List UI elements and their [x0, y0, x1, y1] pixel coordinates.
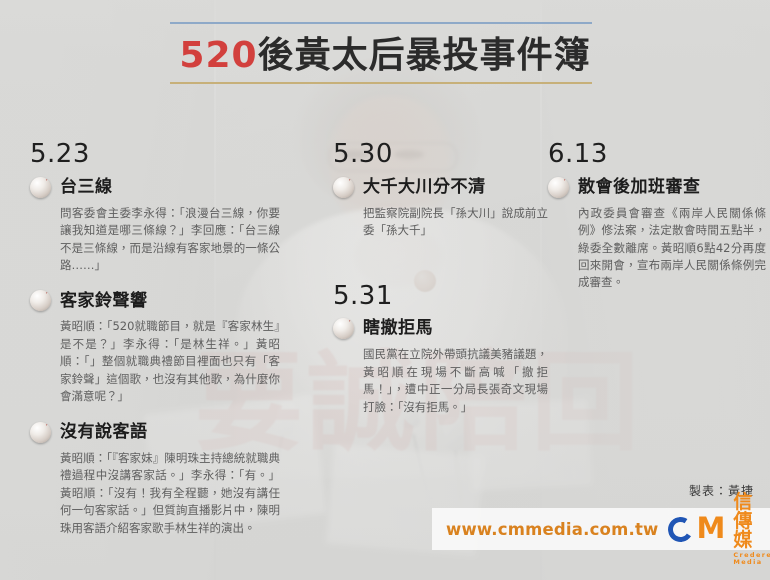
baseball-icon: [333, 318, 354, 339]
event-title: 大千大川分不清: [363, 177, 486, 197]
date-heading: 6.13: [548, 140, 766, 169]
logo-letter-c: [666, 514, 696, 544]
event-body: 把監察院副院長「孫大川」說成前立委「孫大千」: [363, 205, 548, 240]
logo-letter-m: M: [696, 517, 723, 540]
page-title-text: 後黃太后暴投事件簿: [258, 35, 591, 76]
date-heading: 5.30: [333, 140, 548, 169]
event-entry: 散會後加班審查 內政委員會審查《兩岸人民關係條例》修法案，法定散會時間五點半，綠…: [548, 177, 766, 292]
event-body: 國民黨在立院外帶頭抗議美豬議題，黃昭順在現場不斷高喊「撤拒馬！」，遭中正一分局長…: [363, 346, 548, 416]
event-entry-header: 瞎撤拒馬: [333, 318, 548, 339]
event-entry-header: 散會後加班審查: [548, 177, 766, 198]
event-title: 客家鈴聲響: [60, 291, 148, 311]
baseball-icon: [333, 177, 354, 198]
timeline-column-3: 6.13 散會後加班審查 內政委員會審查《兩岸人民關係條例》修法案，法定散會時間…: [548, 140, 766, 308]
website-url[interactable]: www.cmmedia.com.tw: [446, 520, 658, 539]
title-rule-top: [170, 22, 592, 24]
event-entry-header: 大千大川分不清: [333, 177, 548, 198]
event-entry-header: 客家鈴聲響: [30, 290, 280, 311]
cm-logo-icon: M: [668, 517, 723, 542]
event-entry: 台三線 問客委會主委李永得：「浪漫台三線，你要讓我知道是哪三條線？」李回應：「台…: [30, 177, 280, 275]
title-rule-bottom: [170, 82, 592, 84]
event-body: 內政委員會審查《兩岸人民關係條例》修法案，法定散會時間五點半，綠委全數離席。黃昭…: [578, 205, 766, 292]
brand-name-english: Credere Media: [733, 552, 770, 565]
date-heading: 5.23: [30, 140, 280, 169]
event-body: 黃昭順：「『客家妹』陳明珠主持總統就職典禮過程中沒講客家話。」李永得：「有。」黃…: [60, 450, 280, 537]
event-title: 沒有說客語: [60, 422, 148, 442]
event-entry-header: 沒有說客語: [30, 422, 280, 443]
page-title-number: 520: [179, 35, 257, 76]
timeline-column-1: 5.23 台三線 問客委會主委李永得：「浪漫台三線，你要讓我知道是哪三條線？」李…: [30, 140, 280, 553]
event-body: 問客委會主委李永得：「浪漫台三線，你要讓我知道是哪三條線？」李回應：「台三線不是…: [60, 205, 280, 275]
event-title: 散會後加班審查: [578, 177, 701, 197]
brand-name-chinese: 信傳媒: [733, 493, 770, 550]
baseball-icon: [30, 290, 51, 311]
event-entry: 瞎撤拒馬 國民黨在立院外帶頭抗議美豬議題，黃昭順在現場不斷高喊「撤拒馬！」，遭中…: [333, 318, 548, 416]
event-title: 台三線: [60, 177, 113, 197]
event-title: 瞎撤拒馬: [363, 318, 433, 338]
event-body: 黃昭順：「520就職節目，就是『客家林生』是不是？」李永得：「是林生祥。」黃昭順…: [60, 318, 280, 405]
event-entry: 沒有說客語 黃昭順：「『客家妹』陳明珠主持總統就職典禮過程中沒講客家話。」李永得…: [30, 422, 280, 537]
baseball-icon: [30, 422, 51, 443]
event-entry-header: 台三線: [30, 177, 280, 198]
date-heading: 5.31: [333, 282, 548, 311]
page-title: 520後黃太后暴投事件簿: [0, 26, 770, 78]
baseball-icon: [548, 177, 569, 198]
event-entry: 客家鈴聲響 黃昭順：「520就職節目，就是『客家林生』是不是？」李永得：「是林生…: [30, 290, 280, 405]
footer-brand-bar: www.cmmedia.com.tw M 信傳媒 Credere Media: [432, 508, 770, 550]
timeline-column-2: 5.30 大千大川分不清 把監察院副院長「孫大川」說成前立委「孫大千」 5.31…: [333, 140, 548, 432]
baseball-icon: [30, 177, 51, 198]
event-entry: 大千大川分不清 把監察院副院長「孫大川」說成前立委「孫大千」: [333, 177, 548, 240]
infographic-canvas: 要誠陪回 520後黃太后暴投事件簿 5.23 台三線 問客委會主委李永得：「浪漫…: [0, 0, 770, 580]
brand-name-block: 信傳媒 Credere Media: [733, 493, 770, 565]
